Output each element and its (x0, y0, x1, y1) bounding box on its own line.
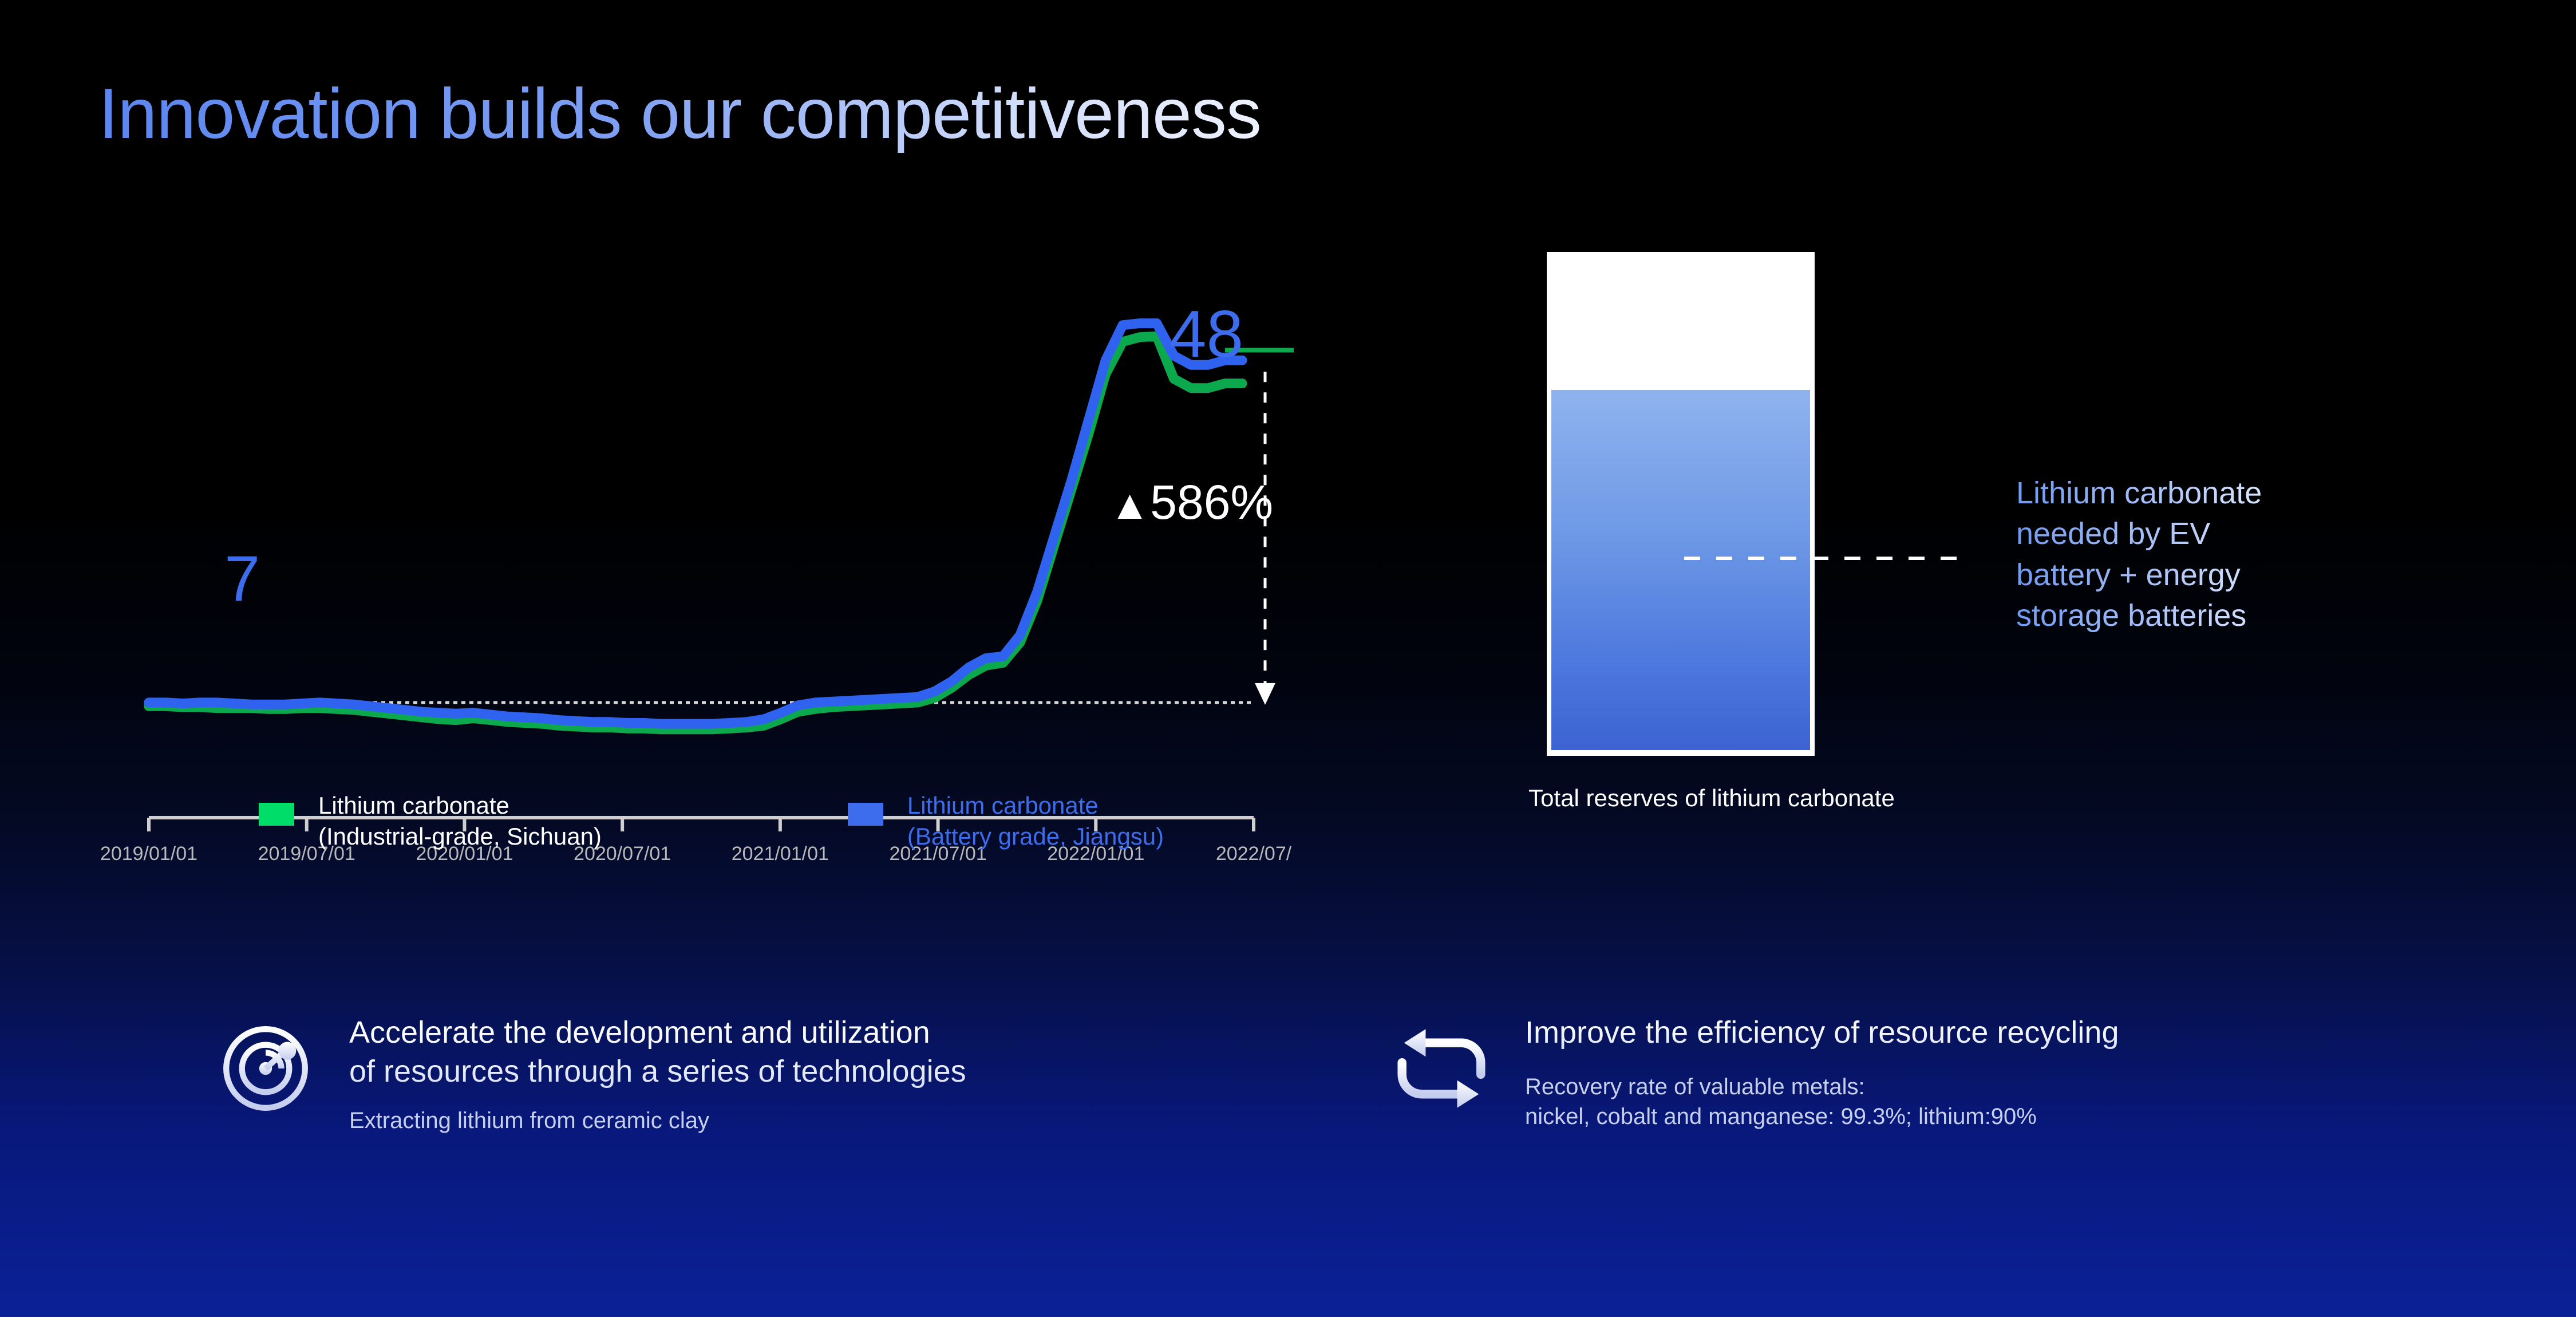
legend-item-battery[interactable]: Lithium carbonate (Battery grade, Jiangs… (848, 790, 1164, 852)
reserves-container (1547, 252, 1815, 756)
feature-block-resource-development: Accelerate the development and utilizati… (216, 1014, 966, 1136)
price-line-chart: 2019/01/012019/07/012020/01/012020/07/01… (132, 240, 1311, 882)
legend-item-industrial[interactable]: Lithium carbonate (Industrial-grade, Sic… (259, 790, 602, 852)
series-line-battery (149, 324, 1242, 724)
x-axis-tick-label: 2022/07/ (1216, 843, 1291, 865)
reserves-demand-note: Lithium carbonate needed by EV battery +… (2016, 473, 2383, 636)
recycle-arrows-icon (1392, 1019, 1491, 1118)
page-title: Innovation builds our competitiveness (98, 73, 1261, 155)
start-value-label: 7 (224, 547, 260, 611)
chart-legend: Lithium carbonate (Industrial-grade, Sic… (259, 790, 1164, 852)
radar-target-icon (216, 1019, 315, 1118)
legend-swatch-industrial (259, 803, 294, 826)
slide-root: Innovation builds our competitiveness 20… (0, 0, 2576, 1317)
feature-text-group: Accelerate the development and utilizati… (349, 1014, 966, 1136)
feature-text-group: Improve the efficiency of resource recyc… (1525, 1014, 2119, 1132)
legend-label-industrial: Lithium carbonate (Industrial-grade, Sic… (318, 790, 602, 852)
line-chart-svg (132, 240, 1311, 882)
percent-change-callout: ▲586% (1109, 478, 1273, 526)
triangle-up-icon: ▲ (1109, 482, 1150, 528)
feature-block-recycling: Improve the efficiency of resource recyc… (1392, 1014, 2119, 1132)
feature-subtext-recycling: Recovery rate of valuable metals: nickel… (1525, 1072, 2119, 1133)
reserves-fill-level (1551, 390, 1810, 750)
legend-swatch-battery (848, 803, 883, 826)
feature-subtext-resource-development: Extracting lithium from ceramic clay (349, 1106, 966, 1136)
x-axis-tick-label: 2019/01/01 (100, 843, 197, 865)
legend-label-battery: Lithium carbonate (Battery grade, Jiangs… (907, 790, 1164, 852)
change-measure-arrow (1255, 372, 1275, 705)
reserves-caption: Total reserves of lithium carbonate (1454, 784, 1969, 812)
reserves-dashed-connector (1684, 557, 1970, 560)
feature-heading-recycling: Improve the efficiency of resource recyc… (1525, 1014, 2119, 1052)
end-value-label: 48 (1170, 301, 1243, 367)
percent-change-value: 586% (1150, 475, 1273, 529)
series-line-industrial (149, 336, 1242, 730)
feature-heading-resource-development: Accelerate the development and utilizati… (349, 1014, 966, 1091)
